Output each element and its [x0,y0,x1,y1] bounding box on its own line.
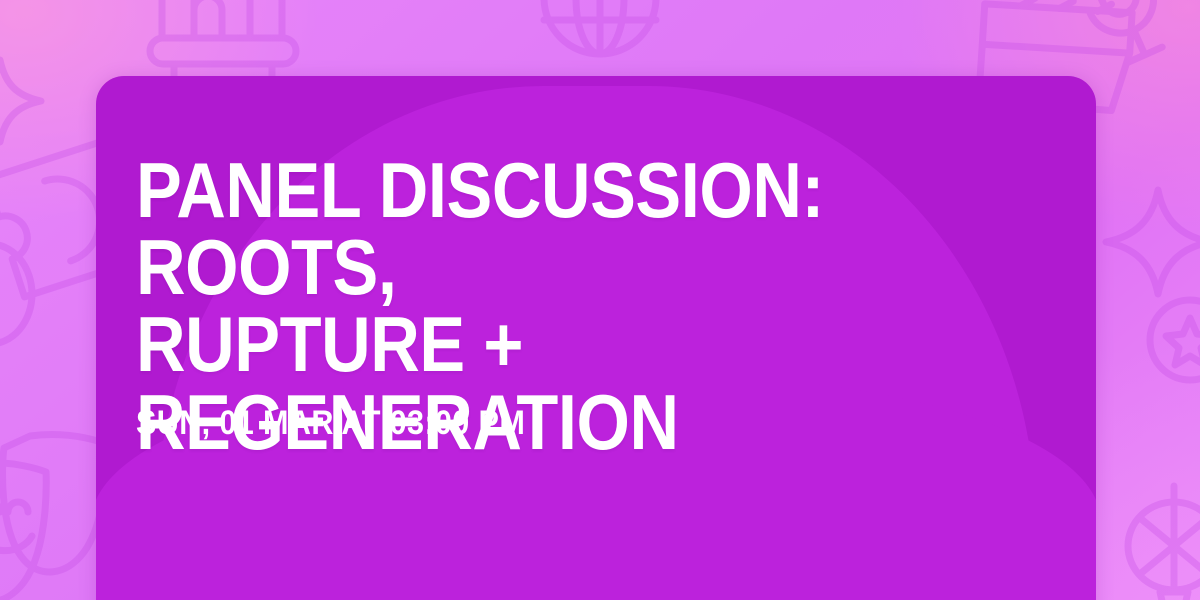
event-card: Panel Discussion: Roots, Rupture + Regen… [96,76,1096,600]
sparkle-icon-small [0,60,41,142]
star-badge-icon [1150,300,1200,380]
event-datetime: Sun, 01 Mar at 03:00 PM [136,404,525,443]
lantern-icon [1128,486,1200,600]
card-content: Panel Discussion: Roots, Rupture + Regen… [136,76,1056,600]
theater-masks-icon [0,435,106,600]
sparkle-icon [1106,190,1200,294]
globe-icon [544,0,656,54]
cinema-seat-icon [150,0,296,86]
event-poster: Panel Discussion: Roots, Rupture + Regen… [0,0,1200,600]
